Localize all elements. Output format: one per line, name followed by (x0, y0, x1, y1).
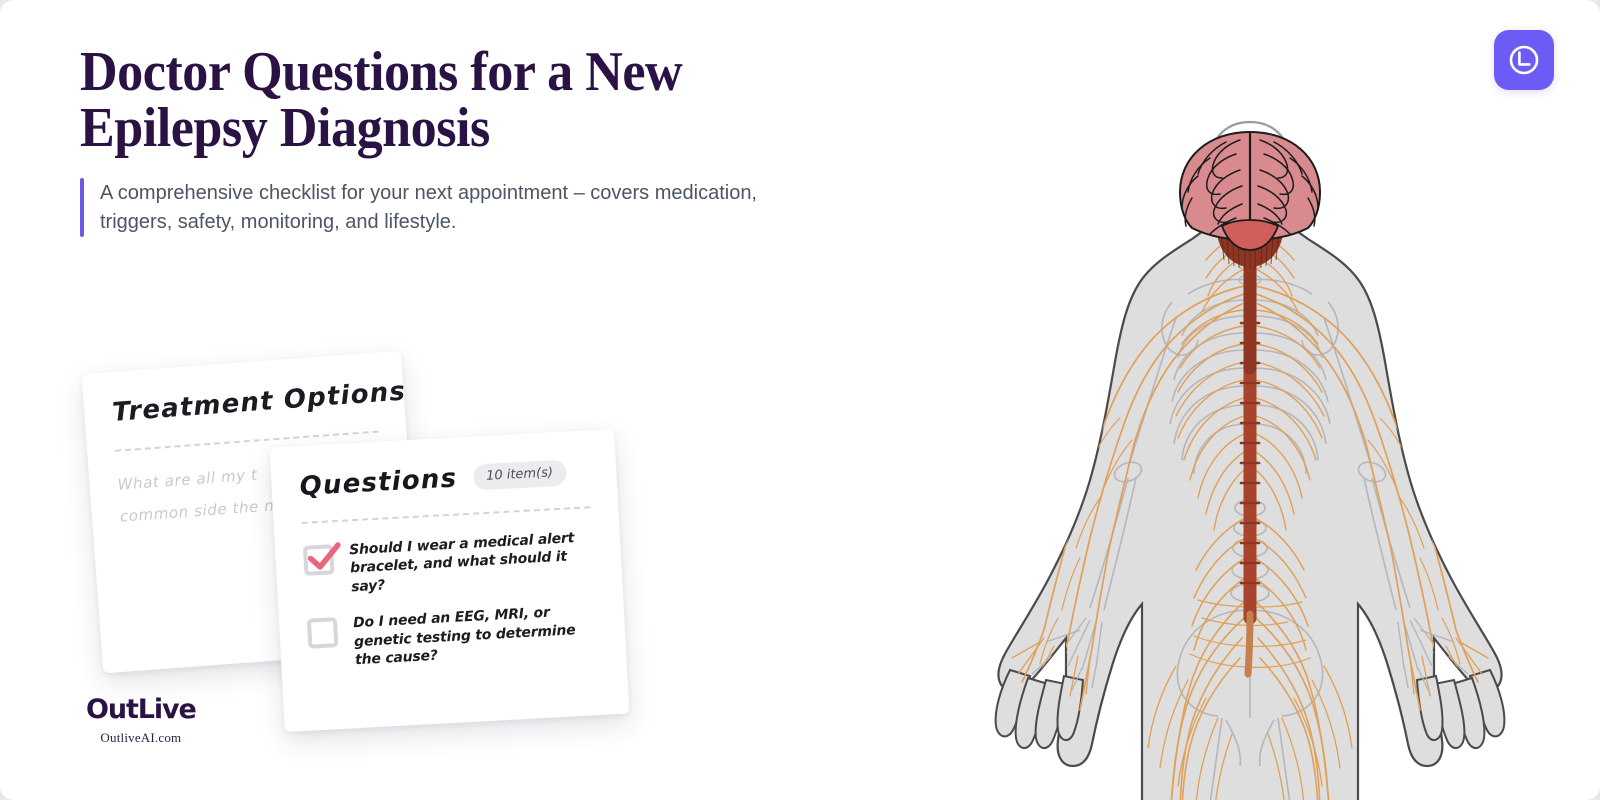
check-icon (304, 540, 346, 576)
question-list: Should I wear a medical alert bracelet, … (303, 528, 599, 672)
card-front-header: Questions 10 item(s) (299, 456, 589, 502)
page-subtitle: A comprehensive checklist for your next … (100, 178, 800, 237)
brand-url: OutliveAI.com (86, 730, 196, 746)
footer-brand: OutLive OutliveAI.com (86, 696, 196, 746)
accent-bar (80, 178, 84, 237)
card-questions[interactable]: Questions 10 item(s) Should I wear a med… (270, 429, 630, 732)
card-front-title: Questions (299, 463, 458, 501)
page-title: Doctor Questions for a New Epilepsy Diag… (80, 44, 852, 156)
spinal-cord (1241, 268, 1259, 674)
checkbox-checked[interactable] (303, 544, 335, 576)
nervous-system-illustration (940, 118, 1560, 800)
nervous-system-svg (940, 118, 1560, 800)
card-back-header: Treatment Options (111, 379, 376, 428)
list-item-label: Do I need an EEG, MRI, or genetic testin… (353, 602, 599, 670)
brain (1180, 132, 1320, 250)
outlive-circle-l-logo-icon (1507, 43, 1541, 77)
poster-canvas: Doctor Questions for a New Epilepsy Diag… (0, 0, 1600, 800)
header: Doctor Questions for a New Epilepsy Diag… (80, 44, 910, 237)
item-count-badge: 10 item(s) (472, 460, 566, 491)
brand-badge[interactable] (1494, 30, 1554, 90)
card-back-title: Treatment Options (111, 376, 407, 427)
list-item[interactable]: Should I wear a medical alert bracelet, … (303, 528, 595, 599)
subtitle-block: A comprehensive checklist for your next … (80, 178, 910, 237)
card-front-divider (302, 506, 591, 524)
list-item[interactable]: Do I need an EEG, MRI, or genetic testin… (307, 602, 599, 673)
checkbox-unchecked[interactable] (307, 618, 339, 650)
list-item-label: Should I wear a medical alert bracelet, … (349, 528, 595, 596)
brand-name: OutLive (86, 696, 196, 723)
